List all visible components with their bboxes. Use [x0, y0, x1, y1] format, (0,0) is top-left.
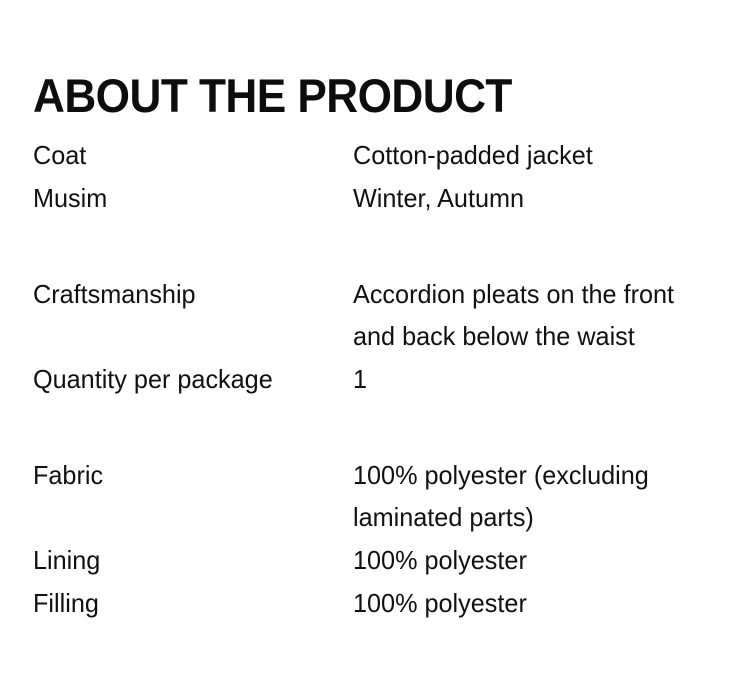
- spec-label: Fabric: [33, 454, 343, 496]
- spec-value: 1: [353, 358, 702, 400]
- spec-group: Craftsmanship Accordion pleats on the fr…: [33, 273, 723, 400]
- spec-group: Fabric 100% polyester (excluding laminat…: [33, 454, 723, 624]
- spec-row: Coat Cotton-padded jacket: [33, 134, 723, 176]
- spec-row: Craftsmanship Accordion pleats on the fr…: [33, 273, 723, 357]
- spec-label: Musim: [33, 177, 343, 219]
- spec-row: Quantity per package 1: [33, 358, 723, 400]
- spec-value: 100% polyester (excluding laminated part…: [353, 454, 702, 538]
- page-title: ABOUT THE PRODUCT: [33, 71, 512, 121]
- spec-row: Lining 100% polyester: [33, 539, 723, 581]
- spec-row: Fabric 100% polyester (excluding laminat…: [33, 454, 723, 538]
- product-info-panel: ABOUT THE PRODUCT Coat Cotton-padded jac…: [0, 0, 750, 683]
- product-spec-table: Coat Cotton-padded jacket Musim Winter, …: [33, 134, 723, 625]
- spec-label: Lining: [33, 539, 343, 581]
- spec-value: 100% polyester: [353, 582, 702, 624]
- spec-label: Coat: [33, 134, 343, 176]
- spec-group: Coat Cotton-padded jacket Musim Winter, …: [33, 134, 723, 219]
- spec-label: Quantity per package: [33, 358, 343, 400]
- spec-row: Musim Winter, Autumn: [33, 177, 723, 219]
- spec-value: Winter, Autumn: [353, 177, 702, 219]
- spec-value: Accordion pleats on the front and back b…: [353, 273, 702, 357]
- spec-label: Filling: [33, 582, 343, 624]
- spec-row: Filling 100% polyester: [33, 582, 723, 624]
- spec-value: Cotton-padded jacket: [353, 134, 702, 176]
- spec-label: Craftsmanship: [33, 273, 343, 315]
- spec-value: 100% polyester: [353, 539, 702, 581]
